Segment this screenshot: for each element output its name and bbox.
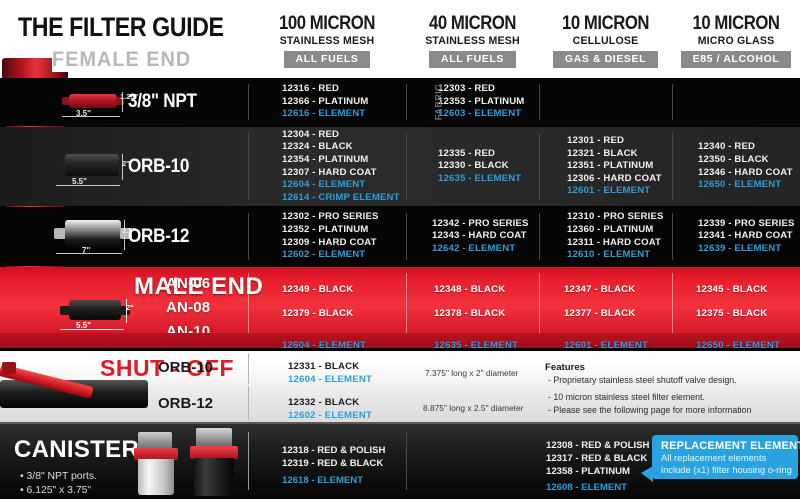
fabric-tag: FABRIC	[433, 84, 443, 121]
part-number: 12306 - HARD COAT	[567, 173, 680, 186]
feature-line: - Please see the following page for more…	[548, 405, 751, 415]
part-number: 12352 - PLATINUM	[282, 224, 406, 237]
part-number: 12301 - RED	[567, 135, 680, 148]
section-canister: CANISTER • 3/8" NPT ports. • 6.125" x 3.…	[0, 424, 800, 499]
element-part-number: 12603 - ELEMENT	[438, 108, 547, 121]
table-row-orb12: 7" 2.5" ORB-12 12302 - PRO SERIES 12352 …	[0, 207, 800, 266]
row-cells-orb10: 12304 - RED 12324 - BLACK 12354 - PLATIN…	[248, 127, 800, 206]
part-number: 12360 - PLATINUM	[567, 224, 680, 237]
part-number: 12351 - PLATINUM	[567, 160, 680, 173]
cell-npt-10micron-cellulose	[547, 78, 680, 126]
part-number: 12330 - BLACK	[438, 160, 547, 173]
column-media-label: STAINLESS MESH	[251, 35, 403, 47]
part-number: 12311 - HARD COAT	[567, 237, 680, 250]
element-part-number: 12604 - ELEMENT	[282, 340, 366, 351]
dimension-shutoff-orb10: 7.375" long x 2" diameter	[425, 368, 518, 378]
part-number: 12353 - PLATINUM	[438, 96, 547, 109]
callout-title: REPLACEMENT ELEMENTS	[661, 440, 790, 452]
canister-image-polish	[130, 432, 184, 496]
element-part-number: 12642 - ELEMENT	[432, 243, 547, 256]
part-number: 12309 - HARD COAT	[282, 237, 406, 250]
element-part-number: 12610 - ELEMENT	[567, 249, 680, 262]
table-row-npt: 3.5" 1.25" 3/8" NPT 12316 - RED 12366 - …	[0, 78, 800, 126]
row-label-cell-npt: 3/8" NPT	[128, 78, 248, 126]
part-number: 12341 - HARD COAT	[698, 230, 800, 243]
column-media-label: CELLULOSE	[542, 35, 670, 47]
part-number: 12307 - HARD COAT	[282, 167, 406, 180]
part-number: 12349 - BLACK	[282, 284, 353, 295]
canister-bullet: • 6.125" x 3.75"	[20, 485, 91, 496]
column-fuel-badge: ALL FUELS	[284, 51, 371, 68]
part-number: 12348 - BLACK	[434, 284, 505, 295]
element-part-number: 12614 - CRIMP ELEMENT	[282, 192, 406, 205]
element-part-number: 12618 - ELEMENT	[282, 475, 363, 486]
callout-line-2: include (x1) filter housing o-ring	[661, 464, 790, 476]
part-number: 12347 - BLACK	[564, 284, 635, 295]
cell-orb12-10micron-cellulose: 12310 - PRO SERIES 12360 - PLATINUM 1231…	[547, 207, 680, 266]
dimension-diameter-male: 2"	[126, 303, 134, 312]
replacement-elements-callout[interactable]: REPLACEMENT ELEMENTS All replacement ele…	[652, 435, 798, 479]
row-label-an08: AN-08	[166, 299, 210, 316]
column-micron-label: 10 MICRON	[680, 14, 793, 33]
part-number: 12377 - BLACK	[564, 308, 635, 319]
element-part-number: 12601 - ELEMENT	[564, 340, 648, 351]
element-part-number: 12602 - ELEMENT	[288, 410, 372, 421]
column-micron-label: 10 MICRON	[547, 14, 664, 33]
row-product-image-orb10: 5.5" 2"	[0, 127, 128, 206]
column-fuel-badge: E85 / ALCOHOL	[681, 51, 792, 68]
element-part-number: 12639 - ELEMENT	[698, 243, 800, 256]
row-product-image-npt: 3.5" 1.25"	[0, 78, 128, 126]
dimension-length-npt: 3.5"	[76, 109, 91, 118]
cell-orb12-100micron: 12302 - PRO SERIES 12352 - PLATINUM 1230…	[256, 207, 406, 266]
part-number: 12321 - BLACK	[567, 148, 680, 161]
canister-image-black	[186, 428, 244, 496]
column-header-10-micron-cellulose: 10 MICRON CELLULOSE GAS & DIESEL	[539, 14, 672, 68]
part-number: 12310 - PRO SERIES	[567, 211, 680, 224]
cell-npt-100micron: 12316 - RED 12366 - PLATINUM 12616 - ELE…	[256, 78, 406, 126]
part-number: 12302 - PRO SERIES	[282, 211, 406, 224]
row-label-orb10: ORB-10	[128, 156, 189, 178]
part-number: 12324 - BLACK	[282, 141, 406, 154]
part-number: 12335 - RED	[438, 148, 547, 161]
part-number: 12340 - RED	[698, 141, 800, 154]
column-fuel-badge: GAS & DIESEL	[553, 51, 658, 68]
page-title: THE FILTER GUIDE	[18, 12, 224, 43]
row-label-cell-orb10: ORB-10	[128, 127, 248, 206]
column-micron-label: 100 MICRON	[257, 14, 396, 33]
cell-npt-10micron-microglass	[680, 78, 800, 126]
section-subtitle-female-end: FEMALE END	[52, 48, 191, 72]
part-number: 12304 - RED	[282, 129, 406, 142]
column-header-40-micron: 40 MICRON STAINLESS MESH ALL FUELS	[406, 14, 539, 68]
cell-npt-40micron: FABRIC 12303 - RED 12353 - PLATINUM 1260…	[414, 78, 547, 126]
shutoff-product-image	[0, 358, 150, 416]
row-cells-npt: 12316 - RED 12366 - PLATINUM 12616 - ELE…	[248, 78, 800, 126]
male-end-element-cells: 12604 - ELEMENT 12635 - ELEMENT 12601 - …	[248, 333, 800, 348]
part-number: 12358 - PLATINUM	[546, 466, 630, 477]
column-header-10-micron-micro-glass: 10 MICRON MICRO GLASS E85 / ALCOHOL	[672, 14, 800, 68]
column-media-label: STAINLESS MESH	[409, 35, 537, 47]
element-part-number: 12608 - ELEMENT	[546, 482, 627, 493]
cell-orb10-100micron: 12304 - RED 12324 - BLACK 12354 - PLATIN…	[256, 127, 406, 206]
row-label-shutoff-orb12: ORB-12	[158, 395, 213, 412]
part-number: 12346 - HARD COAT	[698, 167, 800, 180]
row-label-cell-orb12: ORB-12	[128, 207, 248, 266]
part-number: 12316 - RED	[282, 83, 406, 96]
column-media-label: MICRO GLASS	[675, 35, 798, 47]
part-number: 12375 - BLACK	[696, 308, 767, 319]
callout-line-1: All replacement elements	[661, 452, 790, 464]
dimension-length-orb10: 5.5"	[72, 177, 87, 186]
dimension-shutoff-orb12: 8.875" long x 2.5" diameter	[423, 403, 523, 413]
row-cells-orb12: 12302 - PRO SERIES 12352 - PLATINUM 1230…	[248, 207, 800, 266]
filter-guide-chart: THE FILTER GUIDE FEMALE END 100 MICRON S…	[0, 0, 800, 499]
column-header-100-micron: 100 MICRON STAINLESS MESH ALL FUELS	[248, 14, 406, 68]
element-part-number: 12604 - ELEMENT	[288, 374, 372, 385]
section-title-canister: CANISTER	[14, 436, 139, 464]
part-number: 12379 - BLACK	[282, 308, 353, 319]
cell-orb10-10micron-cellulose: 12301 - RED 12321 - BLACK 12351 - PLATIN…	[547, 127, 680, 206]
part-number: 12378 - BLACK	[434, 308, 505, 319]
part-number: 12345 - BLACK	[696, 284, 767, 295]
element-part-number: 12601 - ELEMENT	[567, 185, 680, 198]
column-micron-label: 40 MICRON	[414, 14, 531, 33]
part-number: 12303 - RED	[438, 83, 547, 96]
part-number: 12366 - PLATINUM	[282, 96, 406, 109]
cell-orb10-10micron-microglass: 12340 - RED 12350 - BLACK 12346 - HARD C…	[680, 127, 800, 206]
dimension-length-orb12: 7"	[82, 246, 90, 255]
row-label-an06: AN-06	[166, 275, 210, 292]
row-label-shutoff-orb10: ORB-10	[158, 359, 213, 376]
row-product-image-orb12: 7" 2.5"	[0, 207, 128, 266]
element-part-number: 12635 - ELEMENT	[434, 340, 518, 351]
element-part-number: 12635 - ELEMENT	[438, 173, 547, 186]
part-number: 12319 - RED & BLACK	[282, 458, 383, 469]
cell-orb10-40micron: 12335 - RED 12330 - BLACK 12635 - ELEMEN…	[414, 127, 547, 206]
cell-orb12-40micron: 12342 - PRO SERIES 12343 - HARD COAT 126…	[414, 207, 547, 266]
part-number: 12339 - PRO SERIES	[698, 218, 800, 231]
element-part-number: 12602 - ELEMENT	[282, 249, 406, 262]
cell-orb12-10micron-microglass: 12339 - PRO SERIES 12341 - HARD COAT 126…	[680, 207, 800, 266]
element-part-number: 12650 - ELEMENT	[696, 340, 780, 351]
part-number: 12354 - PLATINUM	[282, 154, 406, 167]
male-end-element-row: 12604 - ELEMENT 12635 - ELEMENT 12601 - …	[0, 333, 800, 348]
part-number: 12343 - HARD COAT	[432, 230, 547, 243]
table-row-orb10: 5.5" 2" ORB-10 12304 - RED 12324 - BLACK…	[0, 127, 800, 206]
part-number: 12342 - PRO SERIES	[432, 218, 547, 231]
row-label-npt: 3/8" NPT	[128, 91, 197, 113]
column-fuel-badge: ALL FUELS	[429, 51, 516, 68]
element-part-number: 12650 - ELEMENT	[698, 179, 800, 192]
row-label-orb12: ORB-12	[128, 226, 189, 248]
feature-line: - Proprietary stainless steel shutoff va…	[548, 375, 737, 385]
element-part-number: 12616 - ELEMENT	[282, 108, 406, 121]
dimension-length-male: 5.5"	[76, 321, 91, 330]
element-part-number: 12604 - ELEMENT	[282, 179, 406, 192]
part-number: 12350 - BLACK	[698, 154, 800, 167]
